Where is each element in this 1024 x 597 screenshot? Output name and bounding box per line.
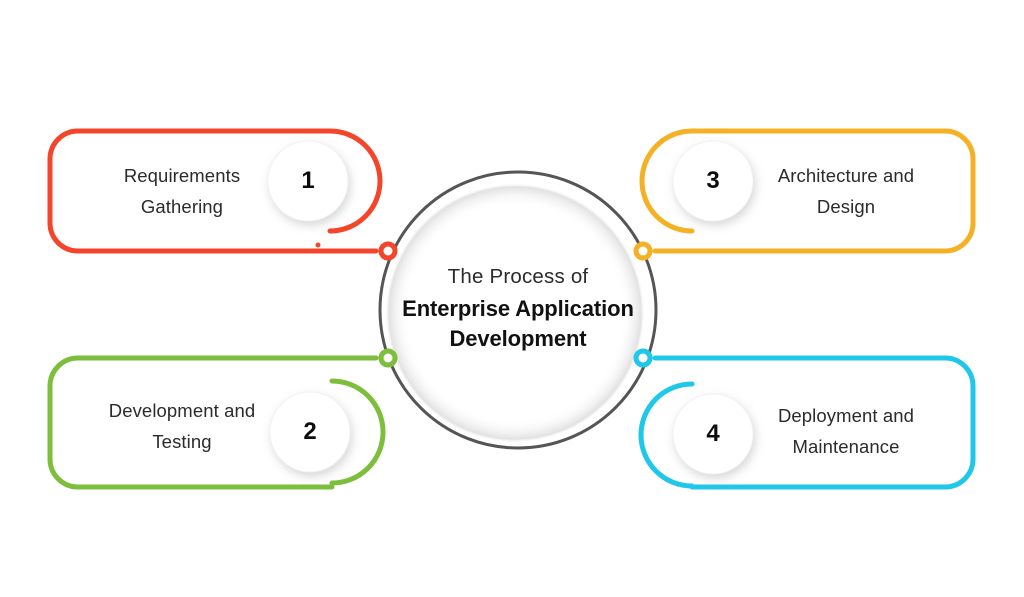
diagram-canvas: The Process of Enterprise Application De… <box>0 0 1024 597</box>
step-4-label-line2: Maintenance <box>728 431 964 462</box>
step-2-label-line1: Development and <box>64 395 300 426</box>
step-1-label-line1: Requirements <box>64 160 300 191</box>
step-1-badge-number: 1 <box>268 141 348 221</box>
step-3-label: Architecture and Design <box>728 160 964 222</box>
step-1-label-line2: Gathering <box>64 191 300 222</box>
center-title-line1: Enterprise Application <box>386 294 650 324</box>
center-title-line2: Development <box>386 324 650 354</box>
step-4-label: Deployment and Maintenance <box>728 400 964 462</box>
connector-dot-1 <box>381 244 395 258</box>
step-3-badge-number: 3 <box>673 141 753 221</box>
center-title-prefix: The Process of <box>386 262 650 292</box>
step-1-label: Requirements Gathering <box>64 160 300 222</box>
step-3-label-line1: Architecture and <box>728 160 964 191</box>
center-title-block: The Process of Enterprise Application De… <box>386 262 650 354</box>
step-2-label: Development and Testing <box>64 395 300 457</box>
step-2-label-line2: Testing <box>64 426 300 457</box>
step-3-label-line2: Design <box>728 191 964 222</box>
connector-dot-3 <box>636 244 650 258</box>
step-4-badge-number: 4 <box>673 394 753 474</box>
step-2-badge-number: 2 <box>270 392 350 472</box>
step-4-label-line1: Deployment and <box>728 400 964 431</box>
